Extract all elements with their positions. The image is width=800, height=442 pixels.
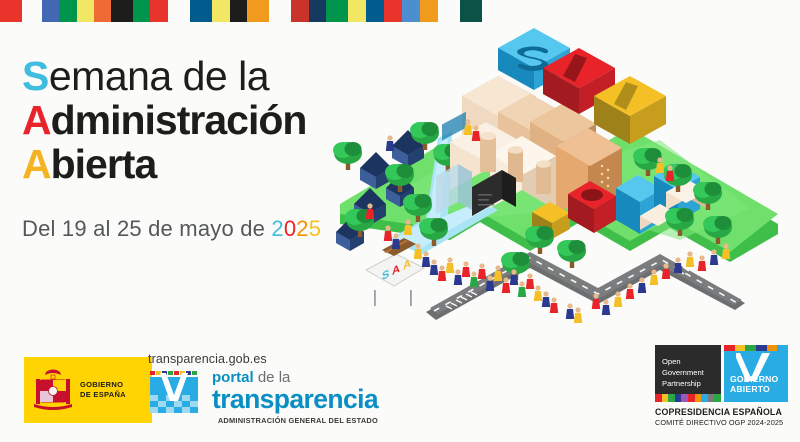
color-stripe-16 <box>309 0 326 22</box>
page-title: Semana de la Administración Abierta <box>22 56 382 185</box>
gobierno-logo-text: GOBIERNO DE ESPAÑA <box>80 380 126 400</box>
color-stripe-3 <box>59 0 77 22</box>
gobierno-abierto-logo: GOBIERNO ABIERTO <box>724 345 788 402</box>
transparencia-url[interactable]: transparencia.gob.es <box>148 352 398 366</box>
ogp-stripes <box>655 394 721 402</box>
ogp-line-1: Open <box>662 356 704 367</box>
year-digit-3: 2 <box>296 216 308 241</box>
year-digit-1: 2 <box>271 216 283 241</box>
title-line-3: Abierta <box>22 144 382 184</box>
title-initial-a2: A <box>22 141 51 187</box>
color-stripe-5 <box>94 0 111 22</box>
spain-coat-of-arms-icon <box>32 366 74 414</box>
transparencia-tagline: portal de la <box>212 370 378 385</box>
event-dates: Del 19 al 25 de mayo de 2025 <box>22 216 321 242</box>
ogp-text: Open Government Partnership <box>662 356 704 389</box>
color-stripe-10 <box>190 0 212 22</box>
title-line-2-rest: dministración <box>51 97 307 143</box>
color-stripe-4 <box>77 0 94 22</box>
isometric-city-illustration: S A A <box>330 18 800 348</box>
title-line-1: Semana de la <box>22 56 382 96</box>
ogp-logo-block: Open Government Partnership GOBIERNO AB <box>655 345 790 427</box>
year-digit-4: 5 <box>309 216 321 241</box>
gobierno-abierto-line-2: ABIERTO <box>730 385 778 394</box>
color-stripe-9 <box>168 0 190 22</box>
title-line-1-rest: emana de la <box>49 53 269 99</box>
title-line-3-rest: bierta <box>51 141 157 187</box>
color-stripe-1 <box>22 0 42 22</box>
ogp-line-3: Partnership <box>662 378 704 389</box>
color-stripe-14 <box>269 0 291 22</box>
title-line-2: Administración <box>22 100 382 140</box>
ogp-line-2: Government <box>662 367 704 378</box>
gobierno-line-2: DE ESPAÑA <box>80 390 126 400</box>
year-digit-2: 0 <box>284 216 296 241</box>
gobierno-line-1: GOBIERNO <box>80 380 126 390</box>
transparencia-wordmark: transparencia <box>212 386 378 413</box>
transparencia-subtitle: ADMINISTRACIÓN GENERAL DEL ESTADO <box>212 416 378 425</box>
color-stripe-8 <box>150 0 168 22</box>
color-stripe-7 <box>133 0 150 22</box>
color-stripe-6 <box>111 0 133 22</box>
comite-directivo-caption: COMITÉ DIRECTIVO OGP 2024-2025 <box>655 418 790 427</box>
color-stripe-0 <box>0 0 22 22</box>
date-prefix: Del 19 al 25 de mayo de <box>22 216 271 241</box>
gobierno-abierto-stripes <box>724 345 788 351</box>
transparencia-mark-icon <box>148 369 206 416</box>
gobierno-abierto-text: GOBIERNO ABIERTO <box>730 375 778 394</box>
color-stripe-11 <box>212 0 230 22</box>
portal-de-la-transparencia-logo[interactable]: transparencia.gob.es portal de la transp… <box>148 352 398 430</box>
open-government-partnership-logo: Open Government Partnership <box>655 345 721 402</box>
color-stripe-2 <box>42 0 59 22</box>
color-stripe-15 <box>291 0 309 22</box>
copresidencia-caption: COPRESIDENCIA ESPAÑOLA <box>655 407 790 417</box>
color-stripe-12 <box>230 0 247 22</box>
title-initial-a1: A <box>22 97 51 143</box>
color-stripe-13 <box>247 0 269 22</box>
gobierno-de-espana-logo: GOBIERNO DE ESPAÑA <box>24 357 152 423</box>
title-initial-s: S <box>22 53 49 99</box>
